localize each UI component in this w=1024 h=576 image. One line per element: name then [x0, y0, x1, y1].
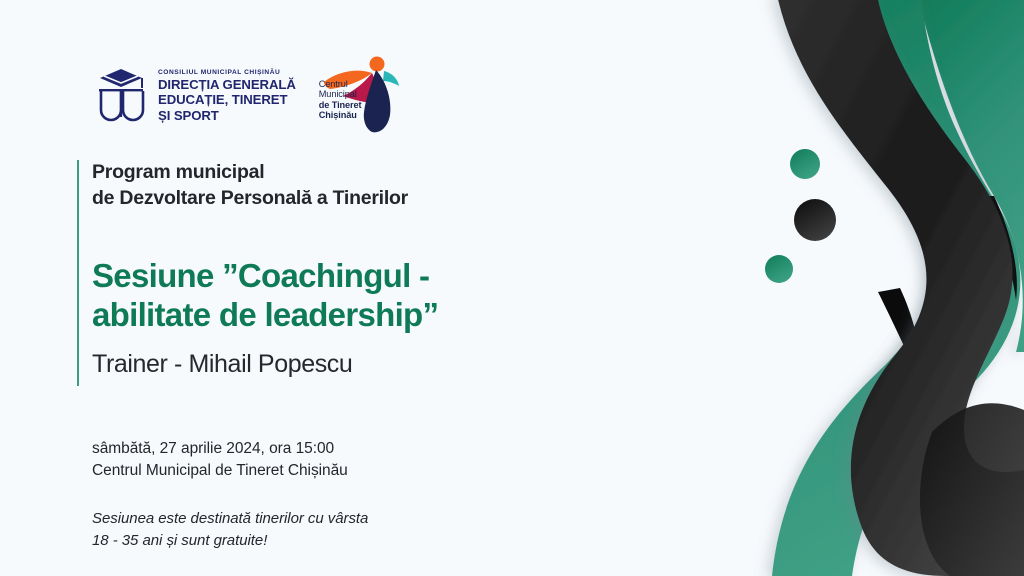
cmt-line-4: Chișinău — [319, 110, 381, 120]
cmt-line-2: Municipal — [319, 89, 381, 99]
graduation-cap-logo-icon — [92, 65, 150, 127]
green-circle-bottom — [765, 255, 793, 283]
session-title-line-2: abilitate de leadership” — [92, 295, 652, 335]
cmt-wordmark: Centrul Municipal de Tineret Chișinău — [319, 79, 381, 121]
session-title-line-1: Sesiune ”Coachingul - — [92, 256, 652, 296]
logo-dges: CONSILIUL MUNICIPAL CHIȘINĂU DIRECȚIA GE… — [92, 65, 296, 127]
black-circle-middle — [794, 199, 836, 241]
session-title: Sesiune ”Coachingul - abilitate de leade… — [92, 256, 652, 335]
logo-row: CONSILIUL MUNICIPAL CHIȘINĂU DIRECȚIA GE… — [92, 55, 402, 137]
decorative-wave-graphic — [664, 0, 1024, 576]
logo-cmt: Centrul Municipal de Tineret Chișinău — [318, 55, 402, 137]
dges-line-2: EDUCAȚIE, TINERET — [158, 92, 296, 108]
content-block: Program municipal de Dezvoltare Personal… — [92, 160, 652, 552]
green-circle-top — [790, 149, 820, 179]
program-kicker-line-2: de Dezvoltare Personală a Tinerilor — [92, 186, 652, 212]
program-kicker-line-1: Program municipal — [92, 160, 652, 186]
vertical-accent-rule — [77, 160, 79, 386]
trainer-name: Trainer - Mihail Popescu — [92, 349, 652, 380]
dges-council-line: CONSILIUL MUNICIPAL CHIȘINĂU — [158, 69, 296, 77]
dges-line-1: DIRECȚIA GENERALĂ — [158, 77, 296, 93]
cmt-line-3: de Tineret — [319, 100, 381, 110]
eligibility-note-line-2: 18 - 35 ani și sunt gratuite! — [92, 530, 652, 552]
wave-dark-tail — [920, 403, 1024, 576]
event-venue: Centrul Municipal de Tineret Chișinău — [92, 460, 652, 482]
eligibility-note-line-1: Sesiunea este destinată tinerilor cu vâr… — [92, 508, 652, 530]
dges-line-3: ȘI SPORT — [158, 108, 296, 124]
poster-canvas: CONSILIUL MUNICIPAL CHIȘINĂU DIRECȚIA GE… — [0, 0, 1024, 576]
cmt-line-1: Centrul — [319, 79, 381, 89]
event-datetime: sâmbătă, 27 aprilie 2024, ora 15:00 — [92, 438, 652, 460]
